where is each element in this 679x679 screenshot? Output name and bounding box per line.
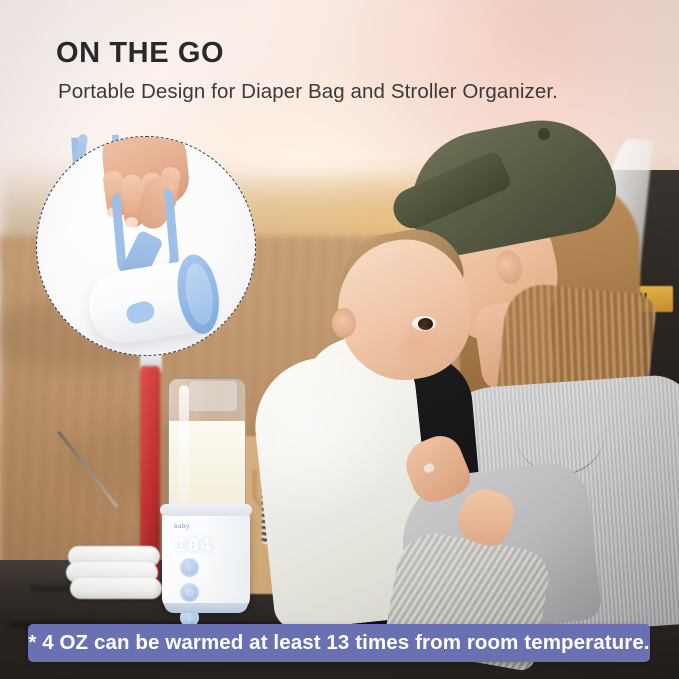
power-button[interactable]: ⏻ — [180, 583, 199, 602]
button-column: ↑ ⏻ ↓ — [180, 558, 199, 633]
bottle-neck — [189, 381, 237, 411]
portable-bottle-warmer: baby 104 ↑ ⏻ ↓ — [162, 378, 254, 610]
heat-up-button[interactable]: ↑ — [180, 558, 199, 577]
footnote-text: * 4 OZ can be warmed at least 13 times f… — [28, 631, 649, 655]
product-in-hand-inset — [36, 136, 256, 356]
warmer-base: baby 104 ↑ ⏻ ↓ — [162, 510, 250, 610]
footnote-banner: * 4 OZ can be warmed at least 13 times f… — [28, 624, 650, 662]
page-subtitle: Portable Design for Diaper Bag and Strol… — [58, 80, 558, 104]
inset-warmer-button — [124, 299, 156, 326]
power-icon: ⏻ — [186, 587, 193, 598]
arrow-up-icon: ↑ — [187, 563, 192, 573]
baby-ear — [332, 308, 356, 338]
inset-content — [37, 137, 255, 355]
baby-cheek — [396, 326, 442, 366]
temperature-display: 104 — [176, 536, 213, 556]
milk-bottle — [168, 378, 246, 518]
bottle-highlight — [179, 385, 189, 509]
arrow-down-icon: ↓ — [187, 613, 192, 623]
mother-and-baby-photo — [300, 120, 679, 620]
baseball-cap-button — [538, 128, 550, 140]
brand-mark: baby — [174, 524, 190, 530]
page-title: ON THE GO — [56, 38, 558, 70]
inset-warmer-body — [84, 258, 214, 348]
diaper — [70, 578, 162, 599]
diaper-stack — [66, 546, 162, 600]
warmer-top-rim — [160, 504, 252, 516]
headline-block: ON THE GO Portable Design for Diaper Bag… — [56, 38, 558, 104]
product-marketing-banner: ANI — [0, 0, 679, 679]
warmer-base-rim — [164, 603, 248, 613]
